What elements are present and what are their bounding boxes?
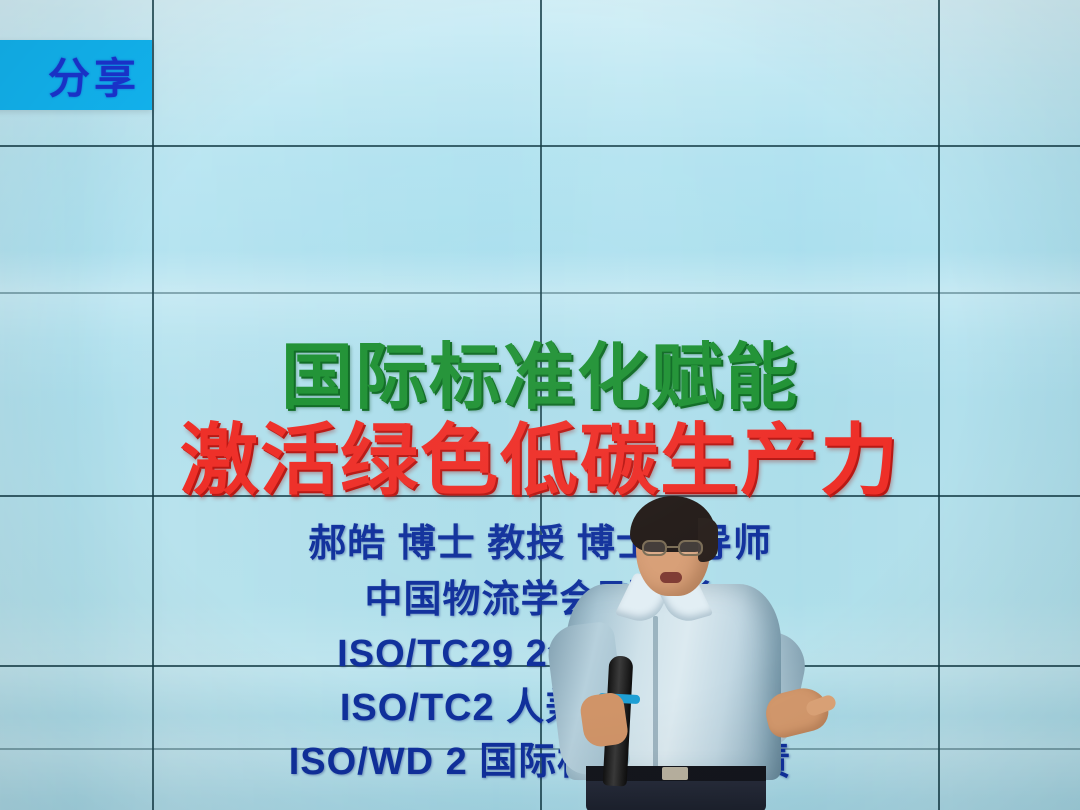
eyeglasses-bridge [667,546,678,548]
slide-title-secondary: 激活绿色低碳生产力 [0,398,1080,510]
eyeglasses-lens-left [642,540,667,556]
eyeglasses-lens-right [678,540,703,556]
speaker [520,498,850,810]
speaker-belt-buckle [662,767,688,780]
speaker-shirt-placket [653,616,658,774]
session-banner-label: 分享 [48,45,140,106]
session-banner: 分享 [0,40,152,110]
speaker-mouth [660,572,682,583]
presentation-photo: 分享 国际标准化赋能 激活绿色低碳生产力 郝皓 博士 教授 博士生导师 中国物流… [0,0,1080,810]
eyeglasses-icon [642,540,706,556]
